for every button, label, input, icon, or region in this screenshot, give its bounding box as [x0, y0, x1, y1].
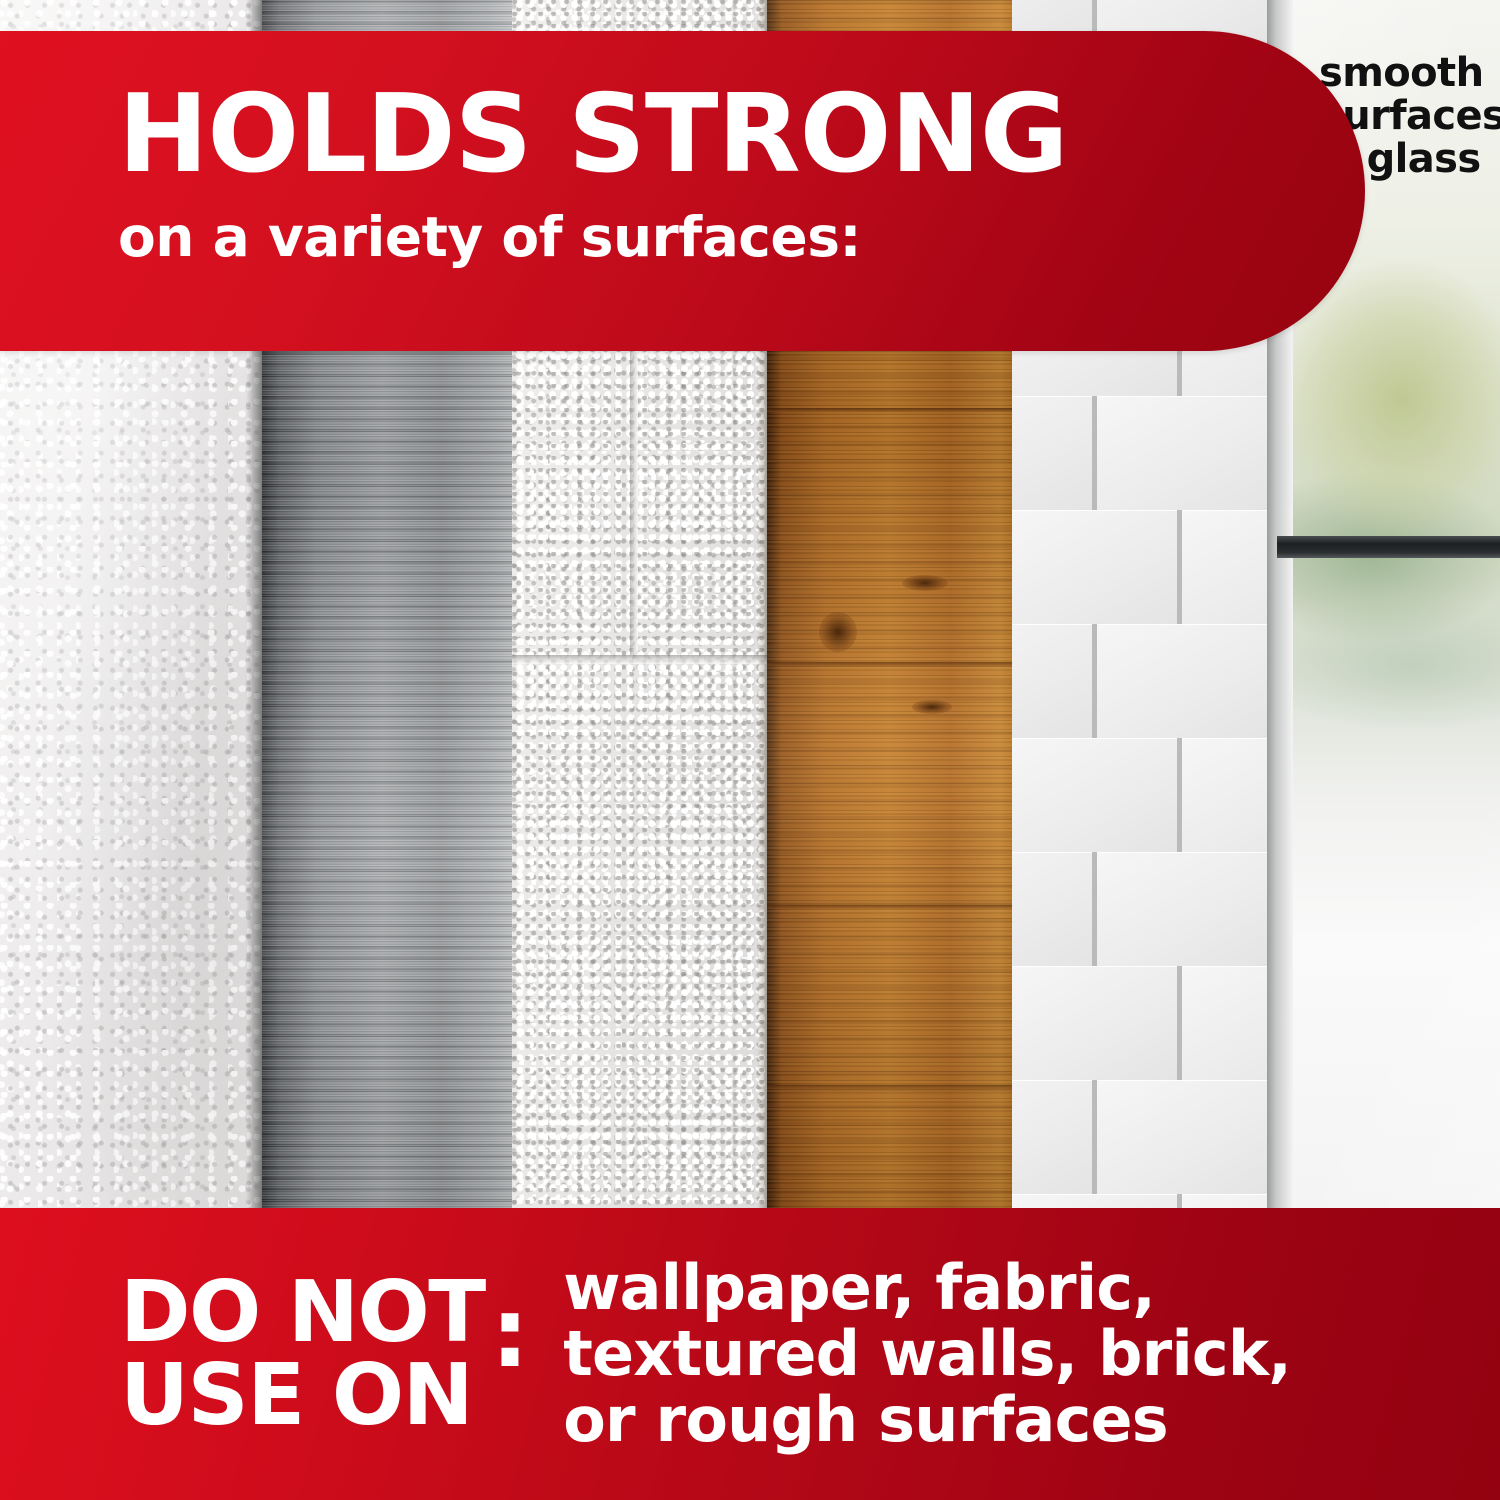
wood-knot: [912, 700, 952, 714]
tile-unit: [1012, 396, 1097, 515]
infographic-page: painted walls metal painted concrete: [0, 0, 1500, 1500]
tile-row: [1012, 510, 1267, 624]
tile-unit: [1012, 510, 1182, 629]
wood-plank-seam: [767, 1085, 1012, 1089]
wood-knot: [902, 575, 948, 591]
do-not-use-on-items: wallpaper, fabric, textured walls, brick…: [563, 1255, 1474, 1454]
tile-row: [1012, 624, 1267, 738]
tile-unit: [1097, 852, 1267, 971]
tile-unit: [1182, 738, 1267, 857]
tile-row: [1012, 852, 1267, 966]
mortar-joint-horizontal: [512, 655, 767, 664]
do-not-use-on-label-block: DO NOT USE ON :: [120, 1271, 529, 1438]
holds-strong-banner: HOLDS STRONG on a variety of surfaces:: [0, 31, 1365, 351]
tile-unit: [1012, 624, 1097, 743]
tile-row: [1012, 1080, 1267, 1194]
wood-plank-seam: [767, 905, 1012, 909]
tile-unit: [1097, 1080, 1267, 1199]
tile-row: [1012, 396, 1267, 510]
tile-unit: [1012, 966, 1182, 1085]
mortar-joint-vertical: [630, 305, 638, 655]
tile-unit: [1012, 852, 1097, 971]
tile-unit: [1012, 1080, 1097, 1199]
tile-unit: [1097, 396, 1267, 515]
warning-label-do-not-use-on: DO NOT USE ON: [120, 1271, 485, 1438]
tile-unit: [1012, 738, 1182, 857]
holds-strong-banner-text: HOLDS STRONG on a variety of surfaces:: [118, 83, 1245, 265]
tile-row: [1012, 966, 1267, 1080]
wood-knot: [819, 612, 857, 652]
window-frame-horizontal: [1277, 536, 1500, 558]
do-not-use-on-banner: DO NOT USE ON : wallpaper, fabric, textu…: [0, 1208, 1500, 1500]
tile-unit: [1182, 966, 1267, 1085]
colon-separator: :: [491, 1285, 529, 1381]
headline-holds-strong: HOLDS STRONG: [118, 83, 1245, 188]
tile-unit: [1097, 624, 1267, 743]
wood-plank-seam: [767, 408, 1012, 412]
subhead-variety-of-surfaces: on a variety of surfaces:: [118, 210, 1245, 265]
tile-unit: [1182, 510, 1267, 629]
tile-row: [1012, 738, 1267, 852]
wood-plank-seam: [767, 662, 1012, 666]
